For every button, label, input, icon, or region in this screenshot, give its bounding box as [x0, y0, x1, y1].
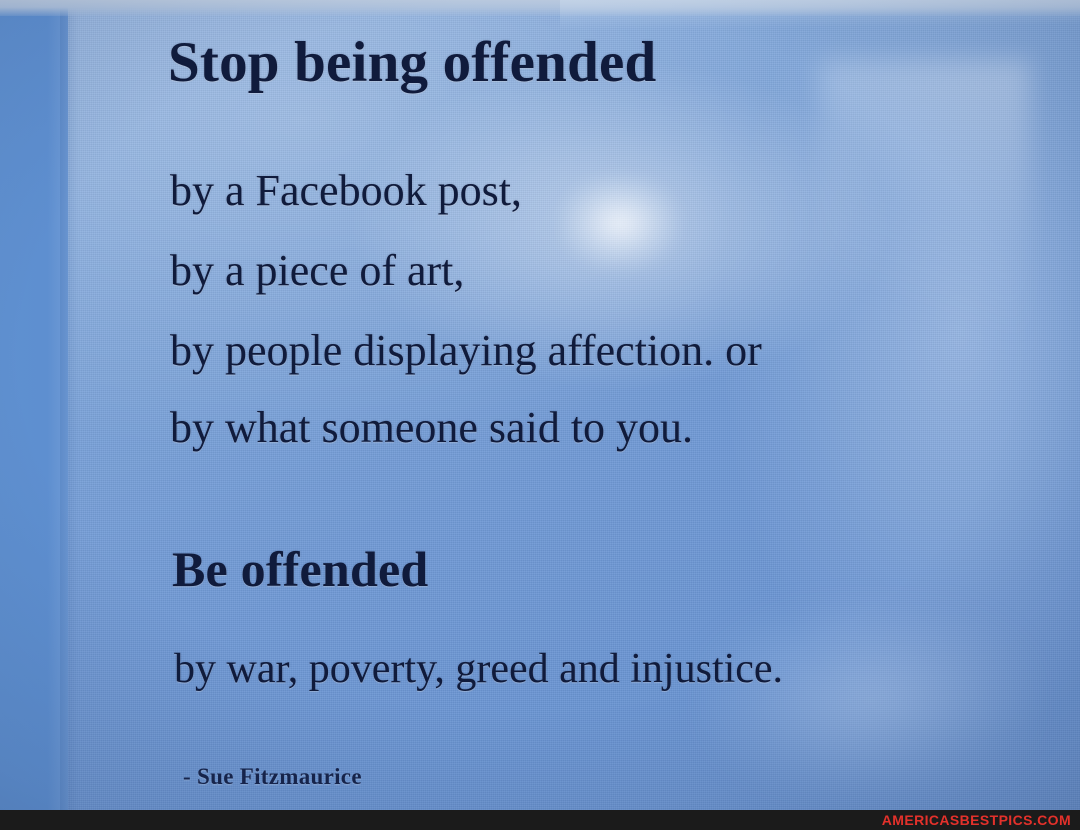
quote-headline-secondary: Be offended [172, 540, 428, 598]
quote-attribution: - Sue Fitzmaurice [183, 764, 362, 790]
quote-headline-primary: Stop being offended [168, 30, 656, 95]
quote-photo: Stop being offended by a Facebook post, … [0, 0, 1080, 830]
quote-line-someone-said: by what someone said to you. [170, 402, 693, 453]
quote-line-war-poverty-greed-injustice: by war, poverty, greed and injustice. [174, 645, 783, 693]
quote-line-piece-of-art: by a piece of art, [170, 245, 464, 296]
quote-line-displaying-affection: by people displaying affection. or [170, 325, 762, 376]
watermark-bar: AMERICASBESTPICS.COM [0, 810, 1080, 830]
quote-text-block: Stop being offended by a Facebook post, … [0, 0, 1080, 810]
quote-line-facebook-post: by a Facebook post, [170, 165, 522, 216]
watermark-label: AMERICASBESTPICS.COM [882, 813, 1080, 827]
